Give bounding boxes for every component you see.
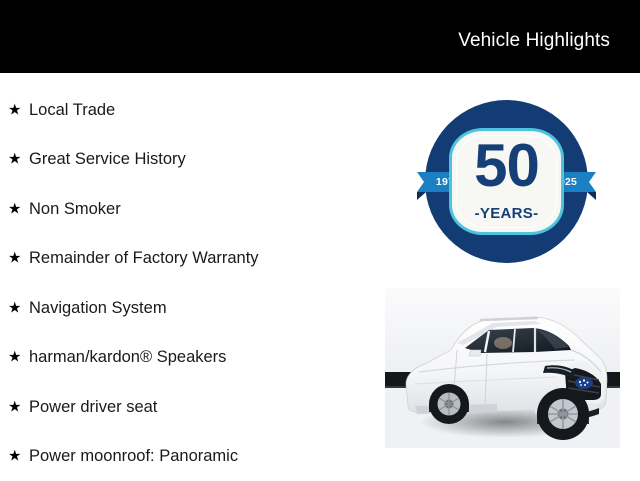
list-item-label: Remainder of Factory Warranty <box>29 248 259 268</box>
star-bullet-icon: ★ <box>8 251 21 266</box>
anniversary-badge-50-years: 1975 2025 50 -YEARS- <box>425 100 588 263</box>
vehicle-photo-illustration <box>385 288 620 462</box>
star-bullet-icon: ★ <box>8 102 21 117</box>
list-item: ★ Power driver seat <box>0 382 370 432</box>
list-item: ★ Remainder of Factory Warranty <box>0 234 370 284</box>
list-item-label: Power driver seat <box>29 397 157 417</box>
list-item: ★ Great Service History <box>0 135 370 185</box>
vehicle-photo <box>385 288 620 462</box>
list-item: ★ Navigation System <box>0 283 370 333</box>
list-item-label: Power moonroof: Panoramic <box>29 446 238 466</box>
star-bullet-icon: ★ <box>8 300 21 315</box>
list-item: ★ Power moonroof: Panoramic <box>0 432 370 481</box>
list-item-label: Non Smoker <box>29 199 121 219</box>
ribbon-tail-right-icon <box>587 192 596 200</box>
star-bullet-icon: ★ <box>8 449 21 464</box>
star-bullet-icon: ★ <box>8 399 21 414</box>
list-item: ★ Non Smoker <box>0 184 370 234</box>
list-item-label: Local Trade <box>29 100 115 120</box>
list-item: ★ harman/kardon® Speakers <box>0 333 370 383</box>
list-item-label: Great Service History <box>29 149 186 169</box>
list-item: ★ Local Trade <box>0 85 370 135</box>
list-item-label: Navigation System <box>29 298 167 318</box>
vehicle-highlights-page: Vehicle Highlights ★ Local Trade ★ Great… <box>0 0 640 480</box>
list-item-label: harman/kardon® Speakers <box>29 347 226 367</box>
star-bullet-icon: ★ <box>8 152 21 167</box>
badge-years-label: -YEARS- <box>425 206 588 222</box>
vehicle-highlights-list: ★ Local Trade ★ Great Service History ★ … <box>0 85 370 481</box>
badge-number: 50 <box>425 136 588 196</box>
header-bar: Vehicle Highlights <box>0 0 640 73</box>
page-title: Vehicle Highlights <box>458 29 610 53</box>
star-bullet-icon: ★ <box>8 350 21 365</box>
star-bullet-icon: ★ <box>8 201 21 216</box>
